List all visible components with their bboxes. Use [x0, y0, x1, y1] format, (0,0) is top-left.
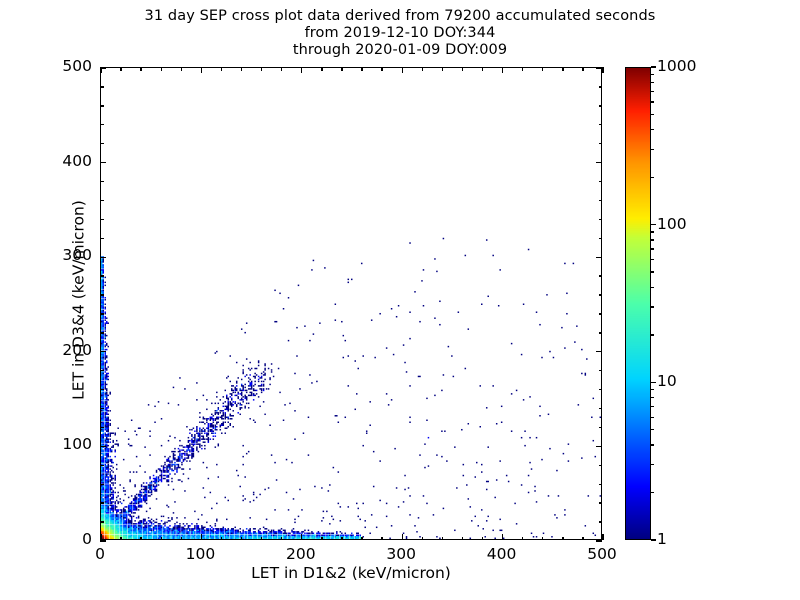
axis-tick	[341, 67, 342, 71]
axis-tick	[442, 67, 443, 71]
axis-tick	[321, 67, 322, 71]
axis-tick	[301, 534, 302, 540]
axis-tick	[596, 446, 602, 447]
y-tick-label: 0	[22, 530, 92, 548]
colorbar-tick	[651, 492, 654, 493]
axis-tick	[201, 67, 202, 73]
axis-tick	[161, 67, 162, 71]
axis-tick	[100, 181, 104, 182]
axis-tick	[100, 105, 104, 106]
axis-tick	[599, 181, 603, 182]
axis-tick	[361, 67, 362, 71]
axis-tick	[596, 351, 602, 352]
axis-tick	[221, 537, 222, 541]
axis-tick	[596, 162, 602, 163]
plot-area	[100, 67, 602, 540]
x-tick-label: 500	[567, 545, 637, 563]
colorbar-tick-label: 1	[657, 530, 667, 548]
axis-tick	[402, 67, 403, 73]
chart-title-line-2: from 2019-12-10 DOY:344	[0, 25, 800, 42]
colorbar-tick	[651, 464, 654, 465]
colorbar-tick	[651, 74, 654, 75]
axis-tick	[562, 67, 563, 71]
colorbar-tick	[651, 129, 654, 130]
axis-tick	[599, 465, 603, 466]
axis-tick	[599, 124, 603, 125]
colorbar-tick	[651, 224, 656, 225]
axis-tick	[422, 67, 423, 71]
axis-tick	[599, 484, 603, 485]
axis-tick	[599, 143, 603, 144]
axis-tick	[100, 465, 104, 466]
colorbar-tick	[651, 177, 654, 178]
axis-tick	[301, 67, 302, 73]
x-tick-label: 200	[266, 545, 336, 563]
axis-tick	[100, 86, 104, 87]
axis-tick	[140, 67, 141, 71]
axis-tick	[599, 294, 603, 295]
axis-tick	[542, 67, 543, 71]
axis-tick	[100, 257, 106, 258]
axis-tick	[241, 537, 242, 541]
colorbar-tick	[651, 397, 654, 398]
colorbar-tick	[651, 444, 654, 445]
axis-tick	[261, 537, 262, 541]
y-axis-label: LET in D3&4 (keV/micron)	[70, 64, 88, 537]
axis-tick	[100, 521, 104, 522]
axis-tick	[281, 67, 282, 71]
axis-tick	[402, 534, 403, 540]
axis-tick	[100, 200, 104, 201]
axis-tick	[381, 67, 382, 71]
axis-tick	[361, 537, 362, 541]
axis-tick	[100, 408, 104, 409]
axis-tick	[599, 332, 603, 333]
scatter-plot-figure: 31 day SEP cross plot data derived from …	[0, 0, 800, 600]
axis-tick	[502, 534, 503, 540]
axis-tick	[100, 351, 106, 352]
axis-tick	[261, 67, 262, 71]
axis-tick	[599, 200, 603, 201]
axis-tick	[602, 534, 603, 540]
chart-title: 31 day SEP cross plot data derived from …	[0, 8, 800, 59]
axis-tick	[201, 534, 202, 540]
axis-tick	[599, 389, 603, 390]
colorbar-tick	[651, 271, 654, 272]
colorbar-tick-label: 1000	[657, 57, 696, 75]
axis-tick	[161, 537, 162, 541]
axis-tick	[462, 537, 463, 541]
colorbar-tick	[651, 406, 654, 407]
axis-tick	[341, 537, 342, 541]
colorbar-tick	[651, 382, 656, 383]
chart-title-line-1: 31 day SEP cross plot data derived from …	[0, 8, 800, 25]
axis-tick	[599, 219, 603, 220]
axis-tick	[422, 537, 423, 541]
axis-tick	[140, 537, 141, 541]
colorbar-gradient	[625, 67, 651, 540]
axis-tick	[602, 67, 603, 73]
axis-tick	[100, 389, 104, 390]
axis-tick	[522, 537, 523, 541]
y-tick-label: 500	[22, 57, 92, 75]
axis-tick	[120, 537, 121, 541]
axis-tick	[596, 540, 602, 541]
axis-tick	[599, 370, 603, 371]
colorbar-tick	[651, 91, 654, 92]
axis-tick	[542, 537, 543, 541]
axis-tick	[281, 537, 282, 541]
x-tick-label: 300	[366, 545, 436, 563]
axis-tick	[582, 537, 583, 541]
colorbar-tick	[651, 149, 654, 150]
colorbar-tick	[651, 114, 654, 115]
colorbar-tick-label: 100	[657, 215, 687, 233]
axis-tick	[522, 67, 523, 71]
axis-tick	[100, 67, 106, 68]
axis-tick	[181, 67, 182, 71]
colorbar-tick	[651, 259, 654, 260]
x-axis-label: LET in D1&2 (keV/micron)	[100, 564, 602, 582]
axis-tick	[381, 537, 382, 541]
colorbar-tick	[651, 101, 654, 102]
axis-tick	[100, 238, 104, 239]
colorbar-tick	[651, 231, 654, 232]
axis-tick	[100, 162, 106, 163]
colorbar	[625, 67, 651, 540]
colorbar-tick	[651, 389, 654, 390]
axis-tick	[221, 67, 222, 71]
axis-tick	[100, 294, 104, 295]
colorbar-tick	[651, 248, 654, 249]
axis-tick	[599, 238, 603, 239]
axis-tick	[100, 540, 106, 541]
axis-tick	[502, 67, 503, 73]
axis-tick	[599, 427, 603, 428]
colorbar-tick	[651, 429, 654, 430]
colorbar-canvas	[626, 68, 650, 539]
axis-tick	[596, 67, 602, 68]
colorbar-tick-label: 10	[657, 372, 677, 390]
x-tick-label: 400	[467, 545, 537, 563]
colorbar-tick	[651, 417, 654, 418]
colorbar-tick	[651, 66, 656, 67]
axis-tick	[562, 537, 563, 541]
axis-tick	[100, 332, 104, 333]
axis-tick	[100, 275, 104, 276]
colorbar-tick	[651, 82, 654, 83]
axis-tick	[100, 143, 104, 144]
axis-tick	[442, 537, 443, 541]
y-tick-label: 300	[22, 246, 92, 264]
scatter-data-canvas	[101, 68, 601, 539]
colorbar-tick	[651, 334, 654, 335]
axis-tick	[100, 427, 104, 428]
axis-tick	[599, 408, 603, 409]
axis-tick	[596, 257, 602, 258]
x-tick-label: 100	[165, 545, 235, 563]
axis-tick	[599, 521, 603, 522]
axis-tick	[100, 124, 104, 125]
axis-tick	[599, 86, 603, 87]
colorbar-tick	[651, 239, 654, 240]
axis-tick	[482, 537, 483, 541]
y-tick-label: 100	[22, 435, 92, 453]
axis-tick	[599, 313, 603, 314]
axis-tick	[462, 67, 463, 71]
axis-tick	[100, 534, 101, 540]
axis-tick	[241, 67, 242, 71]
axis-tick	[120, 67, 121, 71]
axis-tick	[599, 275, 603, 276]
colorbar-tick	[651, 306, 654, 307]
axis-tick	[582, 67, 583, 71]
colorbar-tick	[651, 287, 654, 288]
axis-tick	[100, 446, 106, 447]
axis-tick	[599, 105, 603, 106]
axis-tick	[100, 484, 104, 485]
axis-tick	[100, 219, 104, 220]
y-tick-label: 200	[22, 341, 92, 359]
axis-tick	[100, 502, 104, 503]
y-tick-label: 400	[22, 152, 92, 170]
axis-tick	[181, 537, 182, 541]
axis-tick	[321, 537, 322, 541]
axis-tick	[100, 313, 104, 314]
axis-tick	[100, 370, 104, 371]
axis-tick	[599, 502, 603, 503]
axis-tick	[482, 67, 483, 71]
colorbar-tick	[651, 539, 656, 540]
